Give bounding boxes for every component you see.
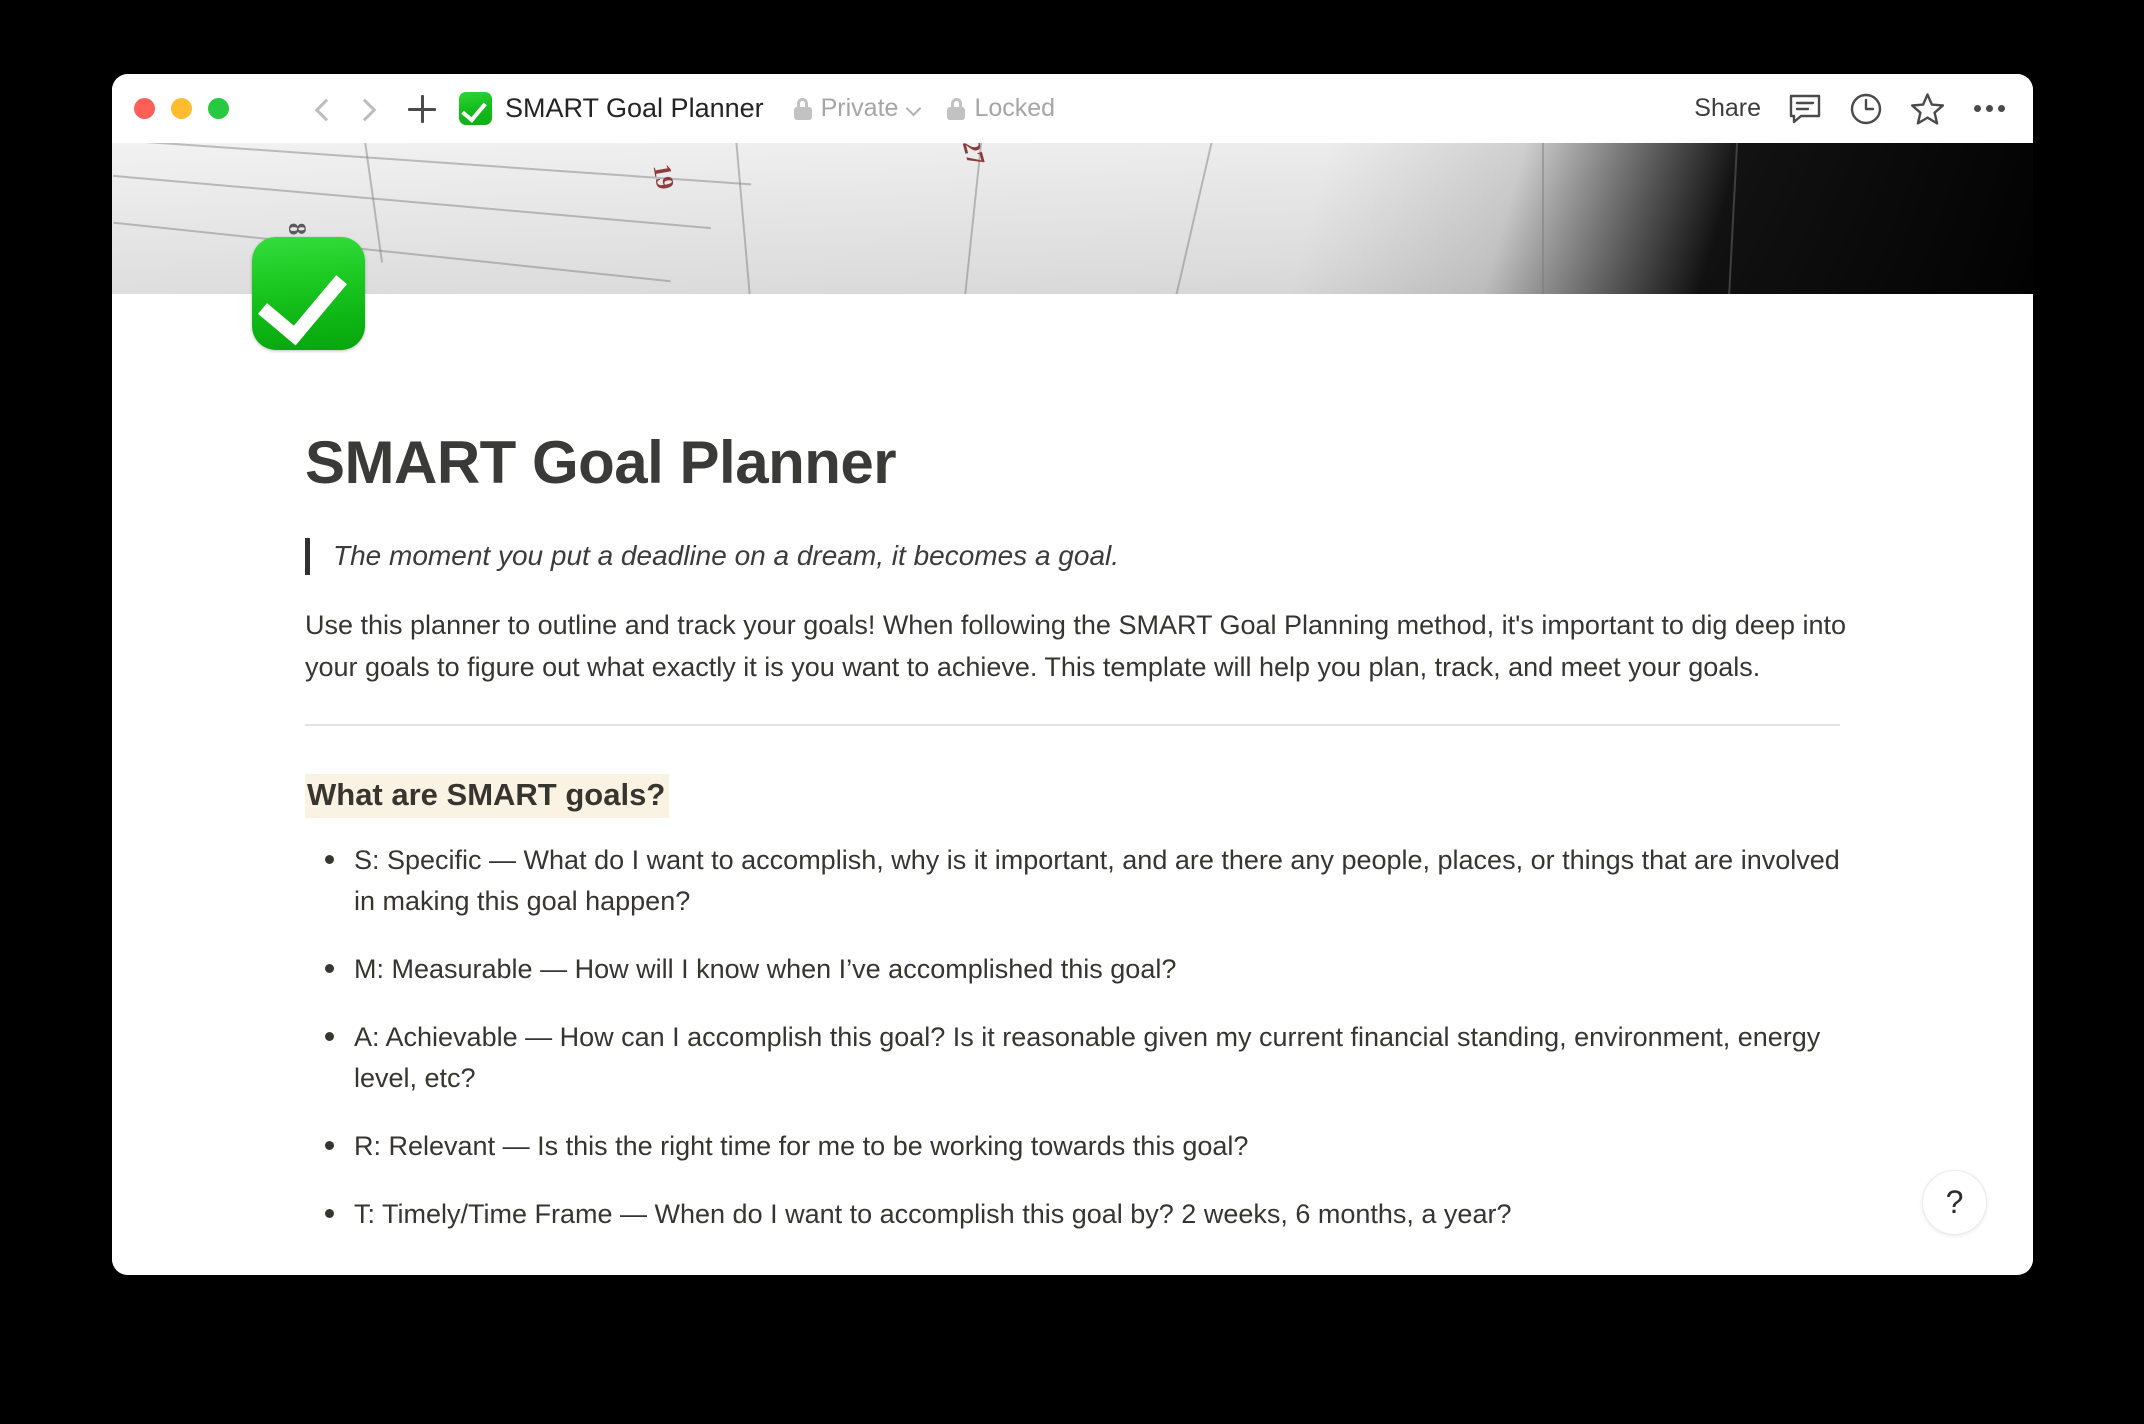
ellipsis-icon[interactable]	[1972, 99, 2007, 118]
document-title[interactable]: SMART Goal Planner	[505, 93, 764, 124]
traffic-lights	[134, 98, 229, 119]
star-icon[interactable]	[1910, 89, 1945, 129]
privacy-label: Private	[821, 94, 899, 123]
cover-image[interactable]: 8 19 27	[112, 143, 2033, 294]
chevron-down-icon	[907, 102, 921, 116]
divider	[305, 724, 1840, 726]
close-window-button[interactable]	[134, 98, 155, 119]
comment-bubble-icon[interactable]	[1788, 89, 1822, 129]
dot	[1974, 105, 1981, 112]
dot	[1998, 105, 2005, 112]
quote-block[interactable]: The moment you put a deadline on a dream…	[305, 536, 1712, 575]
chevron-right-icon[interactable]	[351, 94, 381, 124]
plus-icon[interactable]	[405, 92, 439, 126]
cover-photo	[112, 143, 2033, 294]
sidebar-toggle-icon[interactable]	[251, 89, 281, 129]
page-content: SMART Goal Planner The moment you put a …	[112, 294, 1712, 1235]
check-mark-icon[interactable]	[459, 92, 492, 125]
titlebar-actions: Share	[1694, 89, 2007, 129]
cover-ruling	[1542, 143, 1544, 294]
lock-icon	[794, 98, 812, 120]
page-check-mark-icon[interactable]	[252, 237, 365, 350]
list-item[interactable]: A: Achievable — How can I accomplish thi…	[305, 1017, 1865, 1099]
page-body: SMART Goal Planner The moment you put a …	[112, 294, 2033, 1275]
title-bar: SMART Goal Planner Private Locked Share	[112, 74, 2033, 143]
page-title[interactable]: SMART Goal Planner	[305, 430, 1712, 496]
privacy-selector[interactable]: Private	[794, 94, 922, 123]
locked-status[interactable]: Locked	[947, 94, 1055, 123]
lock-body	[947, 107, 965, 120]
list-item[interactable]: S: Specific — What do I want to accompli…	[305, 840, 1865, 922]
app-window: SMART Goal Planner Private Locked Share	[112, 74, 2033, 1275]
dot	[1986, 105, 1993, 112]
chevron-left-icon[interactable]	[307, 94, 337, 124]
lock-body	[794, 107, 812, 120]
list-item[interactable]: T: Timely/Time Frame — When do I want to…	[305, 1194, 1865, 1235]
smart-goals-list: S: Specific — What do I want to accompli…	[305, 840, 1865, 1235]
list-item[interactable]: R: Relevant — Is this the right time for…	[305, 1126, 1865, 1167]
locked-label: Locked	[974, 94, 1055, 123]
list-item[interactable]: M: Measurable — How will I know when I’v…	[305, 949, 1865, 990]
section-heading[interactable]: What are SMART goals?	[305, 774, 669, 818]
minimize-window-button[interactable]	[171, 98, 192, 119]
cover-number: 8	[282, 222, 310, 235]
help-button[interactable]: ?	[1922, 1170, 1987, 1235]
cover-number: 19	[647, 162, 679, 191]
share-button[interactable]: Share	[1694, 94, 1761, 123]
intro-paragraph[interactable]: Use this planner to outline and track yo…	[305, 605, 1850, 688]
clock-history-icon[interactable]	[1849, 89, 1883, 129]
screen: SMART Goal Planner Private Locked Share	[0, 0, 2144, 1424]
maximize-window-button[interactable]	[208, 98, 229, 119]
lock-icon	[947, 98, 965, 120]
